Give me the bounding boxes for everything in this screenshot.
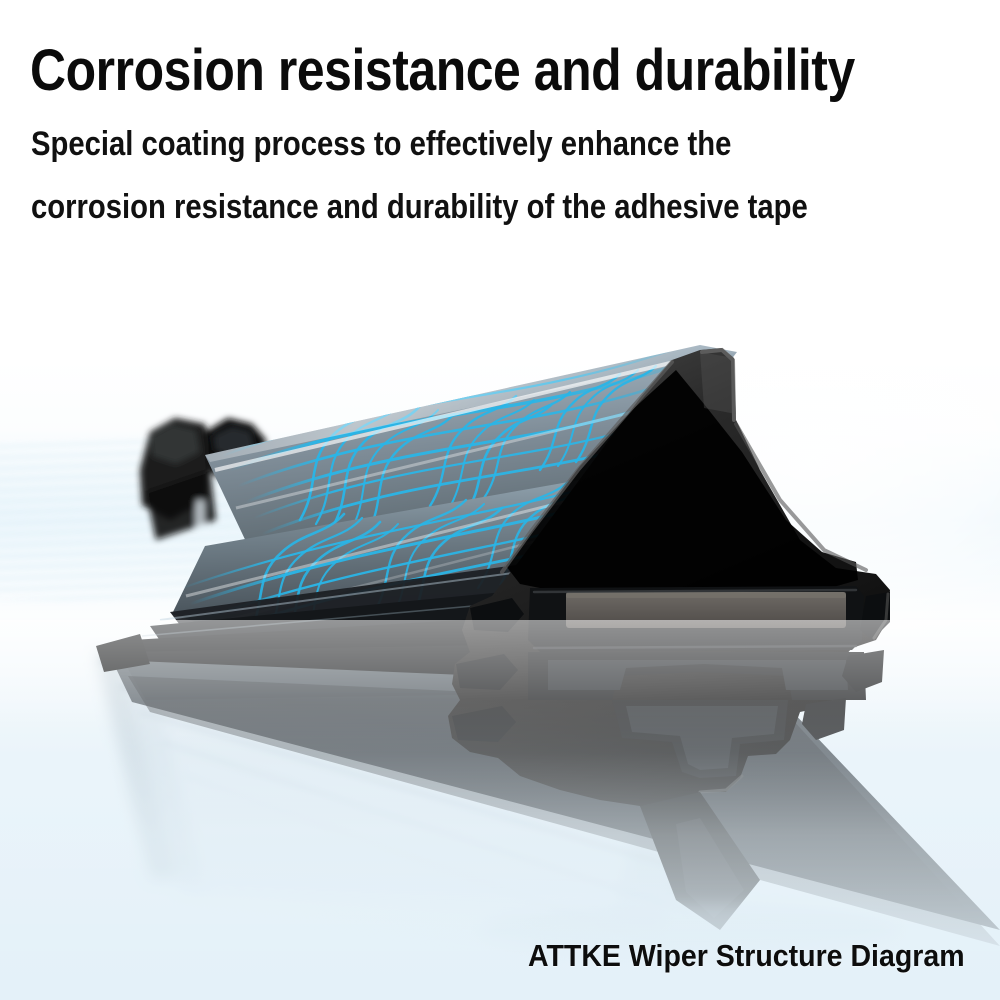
product-feature-image: Corrosion resistance and durability Spec… — [0, 0, 1000, 1000]
subtitle-line-2: corrosion resistance and durability of t… — [31, 188, 857, 226]
figure-caption: ATTKE Wiper Structure Diagram — [528, 938, 965, 974]
subtitle-line-1: Special coating process to effectively e… — [31, 125, 857, 163]
page-title: Corrosion resistance and durability — [30, 40, 838, 102]
